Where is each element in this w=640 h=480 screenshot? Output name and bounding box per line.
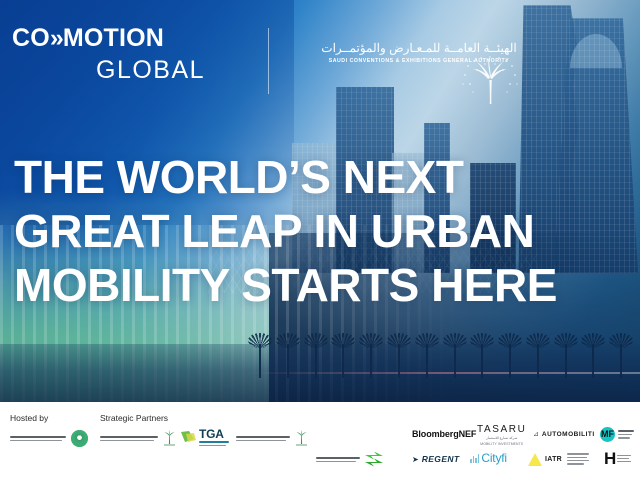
palm-swords-emblem-icon bbox=[163, 430, 176, 447]
cityfi-bars-icon bbox=[470, 454, 479, 463]
hosted-by-label: Hosted by bbox=[10, 413, 48, 423]
tasaru-subtitle: MOBILITY INVESTMENTS bbox=[480, 442, 523, 446]
omf-dot-icon: MF bbox=[600, 427, 615, 442]
comotion-co: CO bbox=[12, 24, 50, 52]
logo-divider bbox=[268, 28, 269, 94]
hero-banner: CO»MOTION GLOBAL الهيئــة العامــة للمـع… bbox=[0, 0, 640, 402]
riyadh-public-transport-logo[interactable] bbox=[316, 452, 384, 467]
headline-line-3: MOBILITY STARTS HERE bbox=[14, 258, 640, 312]
automobiliti-wordmark: AUTOMOBILITI bbox=[542, 431, 595, 438]
tga-wordmark: TGA bbox=[199, 428, 229, 440]
cityfi-logo[interactable]: Cityfi bbox=[470, 451, 507, 465]
tga-logo[interactable]: TGA bbox=[180, 428, 229, 446]
arabic-wordmark-lines bbox=[236, 436, 290, 441]
omf-wordmark: MF bbox=[601, 430, 614, 439]
arabic-wordmark-lines bbox=[10, 436, 66, 441]
partner-footer: Hosted by Strategic Partners bbox=[0, 402, 640, 480]
partner-h-logo[interactable]: H bbox=[604, 450, 631, 467]
tga-mark-icon bbox=[180, 430, 197, 444]
regent-wordmark: REGENT bbox=[422, 454, 460, 464]
strategic-partners-label: Strategic Partners bbox=[100, 413, 168, 423]
iatr-logo[interactable]: IATR bbox=[528, 452, 589, 466]
yellow-triangle-icon bbox=[528, 452, 542, 466]
cityfi-wordmark: Cityfi bbox=[481, 451, 506, 465]
headline: THE WORLD’S NEXT GREAT LEAP IN URBAN MOB… bbox=[14, 150, 640, 312]
automobiliti-logo[interactable]: ⊿ AUTOMOBILITI bbox=[533, 430, 595, 438]
royal-commission-riyadh-logo[interactable] bbox=[236, 430, 308, 447]
banner-root: CO»MOTION GLOBAL الهيئــة العامــة للمـع… bbox=[0, 0, 640, 480]
h-wordmark: H bbox=[604, 450, 614, 467]
bloombergnef-logo[interactable]: BloombergNEF bbox=[412, 429, 476, 439]
arabic-wordmark-lines bbox=[100, 436, 158, 441]
ministry-of-transport-logistic-services-logo[interactable] bbox=[100, 430, 176, 447]
arabic-wordmark-lines bbox=[316, 457, 360, 462]
bloombergnef-wordmark: BloombergNEF bbox=[412, 429, 476, 439]
tasaru-subtitle-arabic: شركة تسارع للاستثمار bbox=[486, 436, 517, 440]
tasaru-wordmark: TASARU bbox=[477, 424, 526, 435]
regent-mark-icon: ➤ bbox=[412, 455, 419, 464]
comotion-motion: MOTION bbox=[63, 24, 164, 52]
palm-tree-emblem-icon bbox=[460, 54, 520, 114]
headline-line-1: THE WORLD’S NEXT bbox=[14, 150, 640, 204]
ministry-of-transport-logo[interactable] bbox=[10, 430, 88, 447]
chevron-double-right-icon: » bbox=[50, 24, 63, 52]
green-circular-emblem-icon bbox=[71, 430, 88, 447]
logo-lockup: CO»MOTION GLOBAL الهيئــة العامــة للمـع… bbox=[12, 26, 626, 98]
palm-swords-emblem-icon bbox=[295, 430, 308, 447]
tasaru-logo[interactable]: TASARU شركة تسارع للاستثمار MOBILITY INV… bbox=[477, 424, 526, 446]
open-mobility-foundation-logo[interactable]: MF bbox=[600, 427, 634, 442]
green-double-arrow-icon bbox=[364, 452, 384, 467]
iatr-wordmark: IATR bbox=[545, 456, 562, 463]
palm-tree-row bbox=[243, 322, 640, 378]
automobiliti-mark-icon: ⊿ bbox=[533, 430, 539, 438]
headline-line-2: GREAT LEAP IN URBAN bbox=[14, 204, 640, 258]
regent-logo[interactable]: ➤ REGENT bbox=[412, 454, 460, 464]
